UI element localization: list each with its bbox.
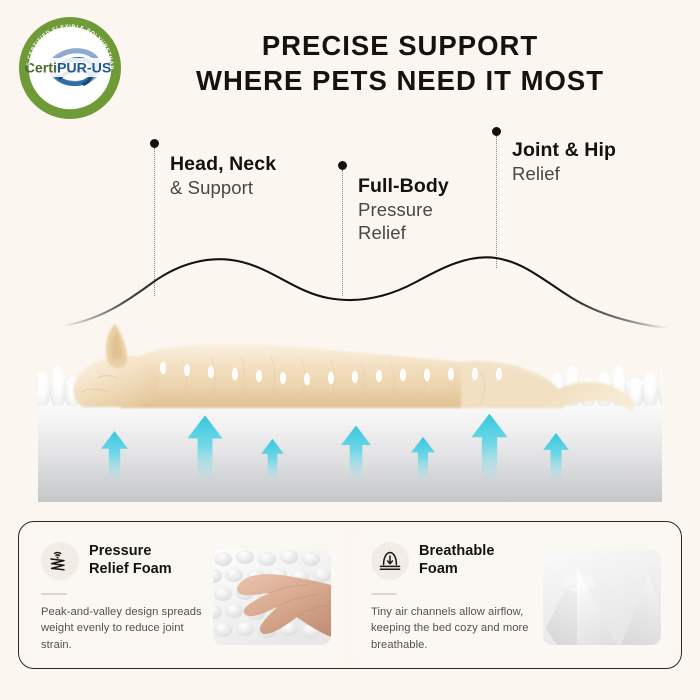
airflow-arrow	[340, 424, 372, 482]
feature-divider	[371, 593, 397, 595]
feature-thumbnail-hand-on-foam	[213, 549, 331, 645]
feature-description: Tiny air channels allow airflow, keeping…	[371, 604, 535, 653]
callout-title: Joint & Hip	[512, 139, 616, 162]
feature-title-line-1: Breathable	[419, 543, 494, 559]
foam-bump	[658, 366, 662, 406]
callout-text: Full-Body Pressure Relief	[358, 175, 449, 245]
feature-text-column: Breathable Foam Tiny air channels allow …	[371, 542, 535, 652]
sleeping-dog	[63, 308, 643, 428]
pet-on-foam-mattress-scene	[38, 300, 662, 502]
callout-text: Joint & Hip Relief	[512, 139, 616, 185]
feature-card-pressure-relief-foam: Pressure Relief Foam Peak-and-valley des…	[25, 528, 345, 662]
callout-leader-line	[342, 170, 343, 296]
airflow-arrow	[542, 432, 570, 482]
airflow-down-arrow-icon	[371, 542, 409, 580]
airflow-arrow	[100, 430, 129, 482]
callout-dot-icon	[492, 127, 501, 136]
callout-subtitle-line-1: Pressure	[358, 198, 449, 221]
feature-thumbnail-foam-peak	[543, 549, 661, 645]
foam-bump	[642, 372, 658, 406]
callout-dot-icon	[150, 139, 159, 148]
certipur-us-badge: CertiPUR-US ® CONTAINS CERTIFIED FLEXIBL…	[16, 14, 124, 122]
feature-description: Peak-and-valley design spreads weight ev…	[41, 604, 205, 653]
headline-line-2: WHERE PETS NEED IT MOST	[140, 63, 660, 98]
feature-text-column: Pressure Relief Foam Peak-and-valley des…	[41, 542, 205, 652]
svg-text:CertiPUR-US: CertiPUR-US	[25, 61, 112, 77]
zigzag-spring-icon	[41, 542, 79, 580]
headline-line-1: PRECISE SUPPORT	[140, 28, 660, 63]
feature-title-line-1: Pressure	[89, 543, 151, 559]
feature-header: Breathable Foam	[371, 542, 535, 580]
feature-title: Breathable Foam	[419, 543, 494, 578]
foam-bump	[38, 372, 50, 406]
feature-card-breathable-foam: Breathable Foam Tiny air channels allow …	[355, 528, 675, 662]
callout-text: Head, Neck & Support	[170, 153, 276, 199]
callout-subtitle: & Support	[170, 176, 276, 199]
page-title: PRECISE SUPPORT WHERE PETS NEED IT MOST	[140, 28, 660, 99]
feature-panel: Pressure Relief Foam Peak-and-valley des…	[18, 521, 682, 669]
callout-leader-line	[154, 148, 155, 296]
airflow-arrow	[410, 436, 436, 482]
airflow-arrow	[260, 438, 285, 482]
callout-leader-line	[496, 136, 497, 268]
callout-title: Head, Neck	[170, 153, 276, 176]
callout-subtitle-line-2: Relief	[358, 221, 449, 244]
feature-header: Pressure Relief Foam	[41, 542, 205, 580]
feature-title: Pressure Relief Foam	[89, 543, 172, 578]
feature-title-line-2: Relief Foam	[89, 561, 172, 577]
feature-divider	[41, 593, 67, 595]
callout-title: Full-Body	[358, 175, 449, 198]
callout-subtitle: Relief	[512, 162, 616, 185]
callout-dot-icon	[338, 161, 347, 170]
infographic-root: CertiPUR-US ® CONTAINS CERTIFIED FLEXIBL…	[0, 0, 700, 700]
feature-title-line-2: Foam	[419, 561, 458, 577]
